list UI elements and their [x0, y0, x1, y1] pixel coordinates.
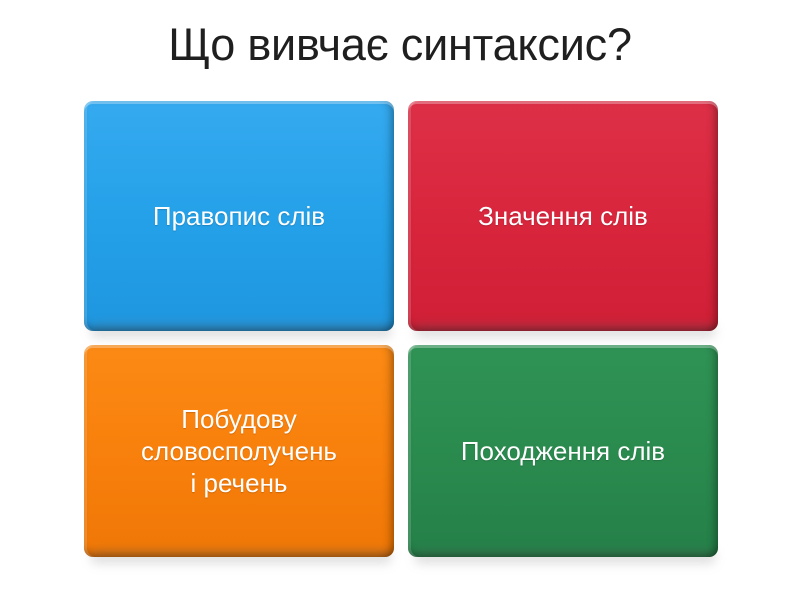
answer-option-3-label: Побудову словосполучень і речень: [141, 403, 337, 499]
answer-option-3[interactable]: Побудову словосполучень і речень: [84, 345, 394, 557]
quiz-stage: Що вивчає синтаксис? Правопис слів Значе…: [0, 0, 800, 600]
answer-option-1[interactable]: Правопис слів: [84, 101, 394, 331]
page-title: Що вивчає синтаксис?: [0, 16, 800, 74]
answer-option-4-label: Походження слів: [461, 435, 665, 467]
answer-options-grid: Правопис слів Значення слів Побудову сло…: [84, 101, 718, 557]
answer-option-2[interactable]: Значення слів: [408, 101, 718, 331]
answer-option-1-label: Правопис слів: [153, 200, 325, 232]
answer-option-2-label: Значення слів: [478, 200, 648, 232]
answer-option-4[interactable]: Походження слів: [408, 345, 718, 557]
